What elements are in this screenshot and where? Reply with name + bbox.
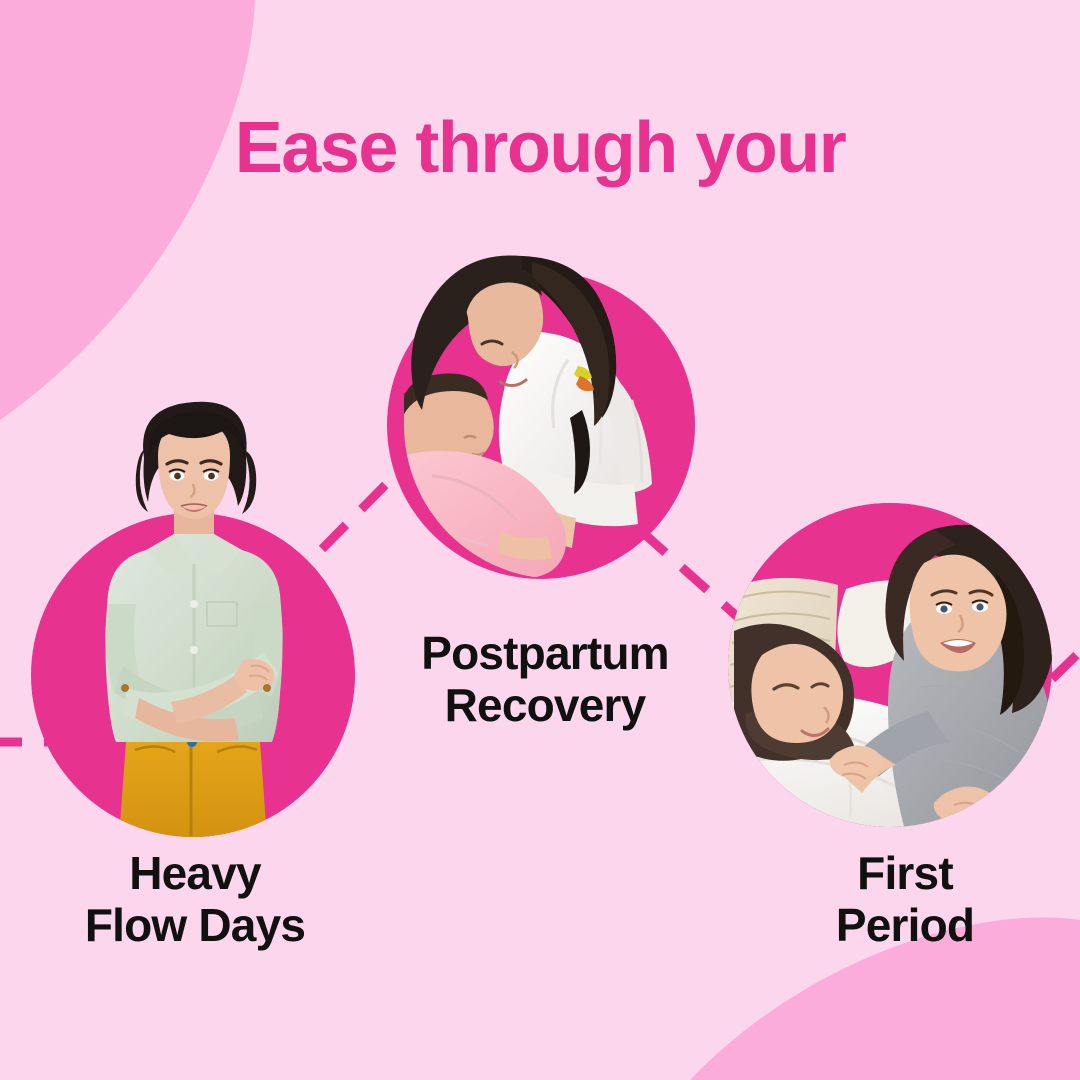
photo-first-period-art (728, 503, 1052, 827)
caption-postpartum-recovery: Postpartum Recovery (380, 628, 710, 731)
poster-canvas: Ease through your (0, 0, 1080, 1080)
circle-backdrop-postpartum-recovery (387, 271, 695, 579)
caption-first-period: First Period (765, 848, 1045, 951)
caption-heavy-flow-days: Heavy Flow Days (45, 848, 345, 951)
page-title: Ease through your (0, 112, 1080, 184)
photo-first-period (728, 503, 1052, 827)
circle-backdrop-heavy-flow-days (31, 513, 355, 837)
